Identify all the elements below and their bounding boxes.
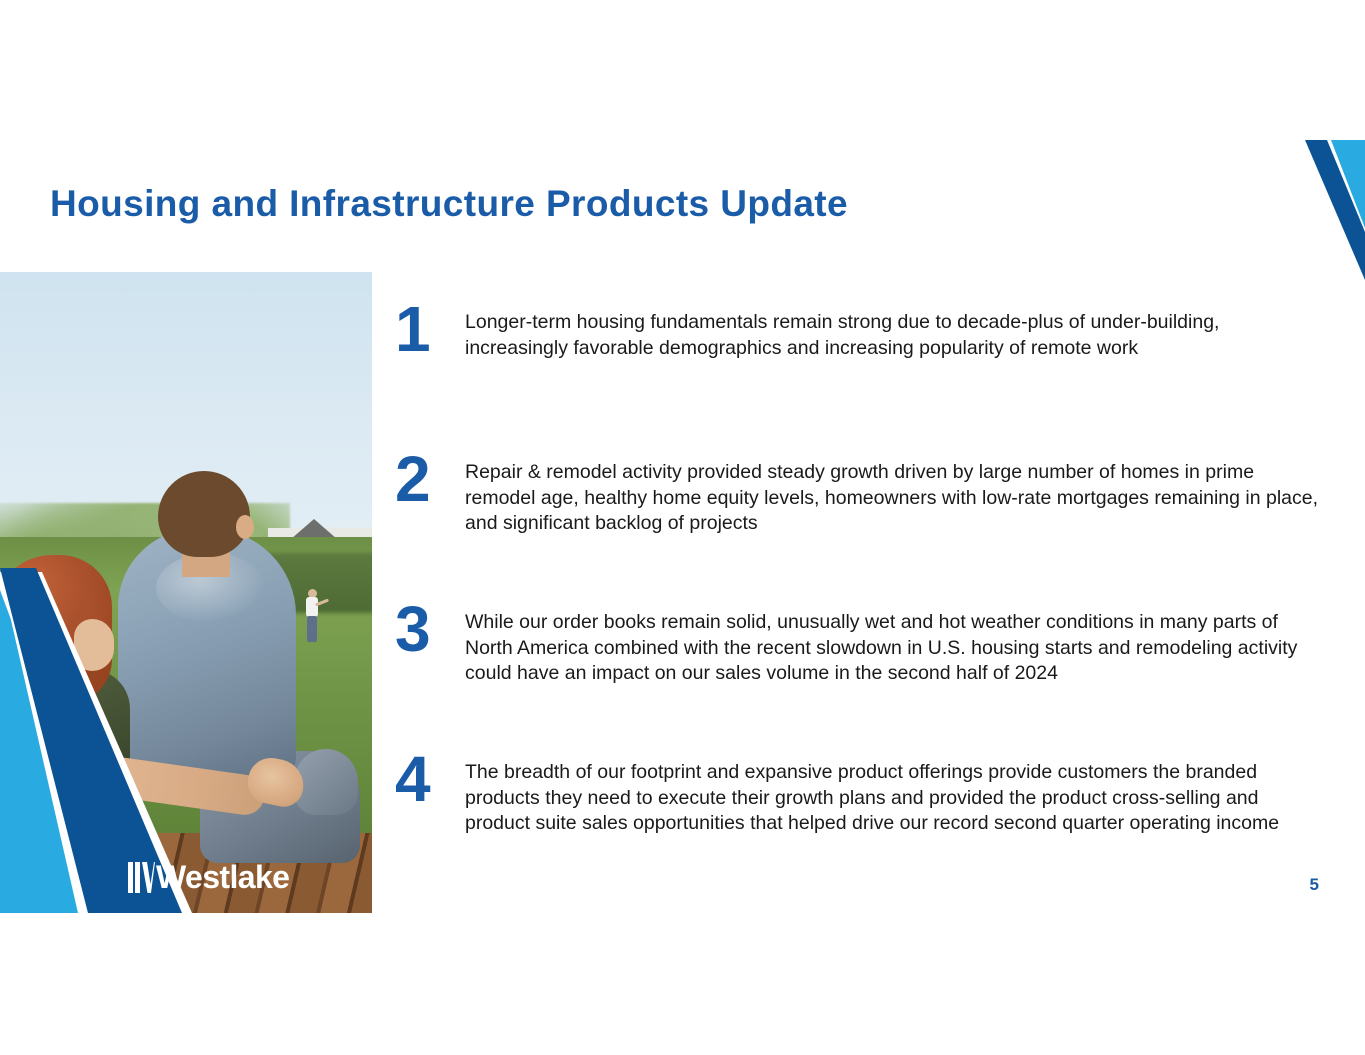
- photo-scene: [0, 272, 372, 913]
- point-number-4: 4: [393, 750, 465, 809]
- list-item: 4 The breadth of our footprint and expan…: [393, 750, 1319, 900]
- page-number: 5: [1310, 875, 1319, 895]
- westlake-wordmark: Westlake: [156, 861, 289, 893]
- key-points-list: 1 Longer-term housing fundamentals remai…: [393, 300, 1319, 900]
- corner-chevron-graphic: [1305, 140, 1365, 280]
- man-ear: [236, 515, 254, 539]
- man-knee: [294, 749, 358, 815]
- point-text-3: While our order books remain solid, unus…: [465, 600, 1319, 687]
- point-number-3: 3: [393, 600, 465, 659]
- woman-figure: [0, 543, 140, 793]
- slide-canvas: Housing and Infrastructure Products Upda…: [0, 0, 1365, 1055]
- page-title: Housing and Infrastructure Products Upda…: [50, 183, 848, 225]
- man-head: [158, 471, 250, 557]
- point-text-4: The breadth of our footprint and expansi…: [465, 750, 1319, 837]
- point-number-2: 2: [393, 450, 465, 509]
- westlake-logo: Westlake: [128, 861, 289, 893]
- woman-face: [74, 619, 114, 671]
- list-item: 2 Repair & remodel activity provided ste…: [393, 450, 1319, 600]
- hero-photo: Westlake: [0, 272, 372, 913]
- list-item: 1 Longer-term housing fundamentals remai…: [393, 300, 1319, 450]
- westlake-w-mark: [128, 862, 155, 893]
- point-text-2: Repair & remodel activity provided stead…: [465, 450, 1319, 537]
- point-text-1: Longer-term housing fundamentals remain …: [465, 300, 1319, 361]
- point-number-1: 1: [393, 300, 465, 359]
- list-item: 3 While our order books remain solid, un…: [393, 600, 1319, 750]
